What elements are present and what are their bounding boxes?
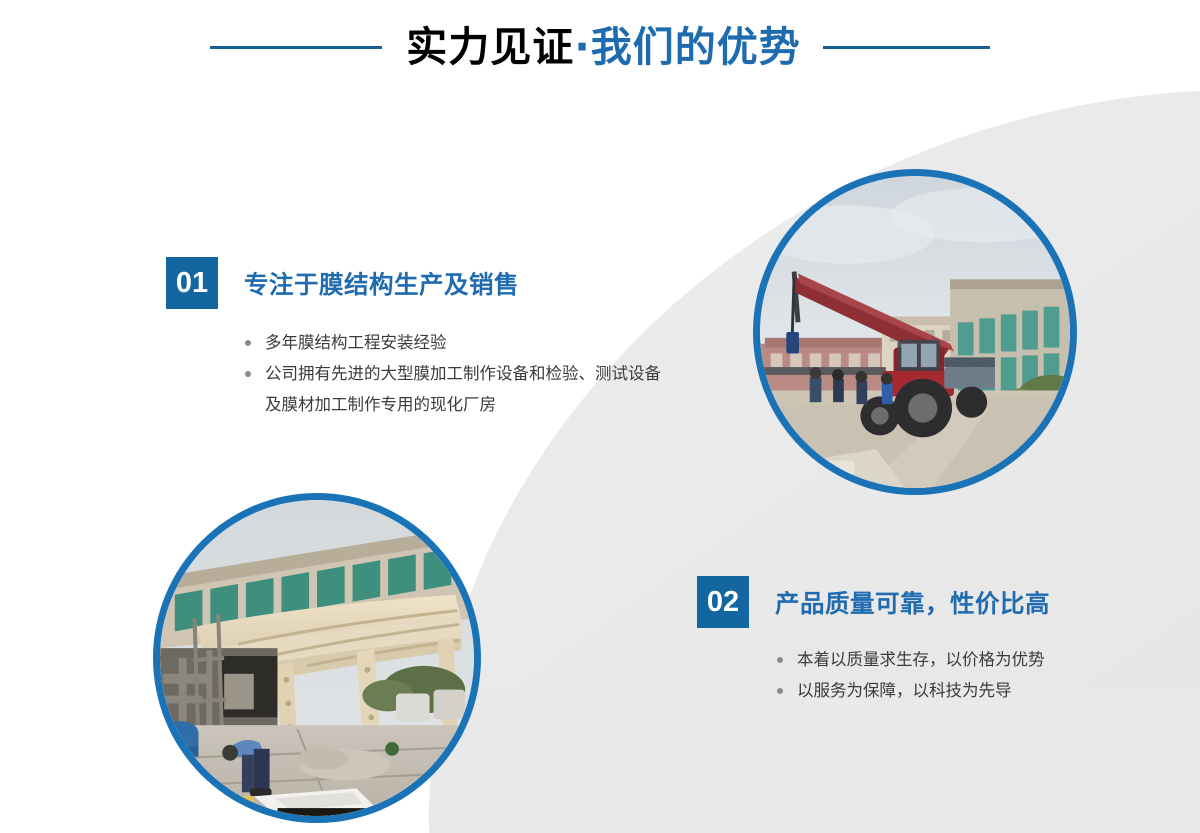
feature-01-bullet-list: 多年膜结构工程安装经验 公司拥有先进的大型膜加工制作设备和检验、测试设备及膜材加… bbox=[243, 327, 673, 420]
list-item: 以服务为保障，以科技为先导 bbox=[775, 675, 1105, 706]
list-item: 本着以质量求生存，以价格为优势 bbox=[775, 644, 1105, 675]
photo-2-illustration bbox=[160, 500, 474, 816]
list-item: 多年膜结构工程安装经验 bbox=[243, 327, 673, 358]
photo-1-frame bbox=[760, 176, 1070, 488]
page-title-orange: 实力见证 bbox=[406, 23, 574, 71]
photo-truck-crane-construction-site bbox=[753, 169, 1077, 495]
feature-01-title: 专注于膜结构生产及销售 bbox=[244, 266, 519, 301]
header-rule-right-icon bbox=[823, 46, 990, 49]
header-rule-left-icon bbox=[210, 46, 382, 49]
list-item: 公司拥有先进的大型膜加工制作设备和检验、测试设备及膜材加工制作专用的现化厂房 bbox=[243, 358, 673, 420]
feature-02-title: 产品质量可靠，性价比高 bbox=[775, 585, 1050, 620]
page-title: 实力见证·我们的优势 bbox=[406, 27, 801, 68]
feature-block-02: 02 产品质量可靠，性价比高 本着以质量求生存，以价格为优势 以服务为保障，以科… bbox=[697, 576, 1105, 706]
feature-02-number-badge: 02 bbox=[697, 576, 749, 628]
photo-1-illustration bbox=[760, 176, 1070, 488]
feature-02-head: 02 产品质量可靠，性价比高 bbox=[697, 576, 1105, 628]
feature-block-01: 01 专注于膜结构生产及销售 多年膜结构工程安装经验 公司拥有先进的大型膜加工制… bbox=[166, 257, 673, 420]
section-header: 实力见证·我们的优势 bbox=[0, 0, 1200, 118]
photo-membrane-carport-structure bbox=[153, 493, 481, 823]
feature-01-number-badge: 01 bbox=[166, 257, 218, 309]
page-title-blue: ·我们的优势 bbox=[574, 23, 801, 71]
feature-02-bullet-list: 本着以质量求生存，以价格为优势 以服务为保障，以科技为先导 bbox=[775, 644, 1105, 706]
photo-2-frame bbox=[160, 500, 474, 816]
advantages-banner: 实力见证·我们的优势 bbox=[0, 0, 1200, 833]
feature-01-head: 01 专注于膜结构生产及销售 bbox=[166, 257, 673, 309]
